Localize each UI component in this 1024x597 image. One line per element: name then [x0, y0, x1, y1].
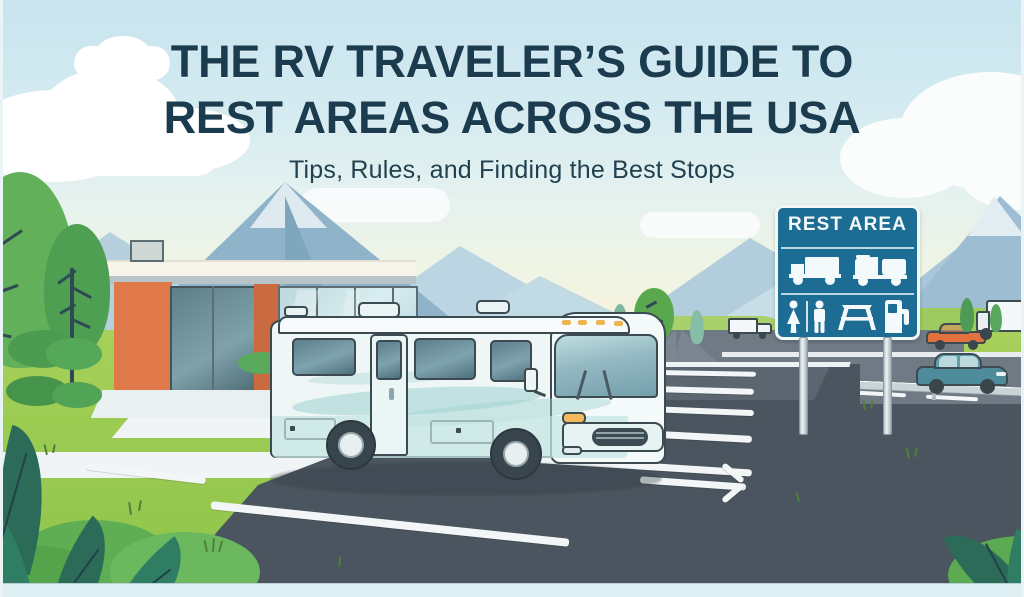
bottom-border — [0, 583, 1024, 597]
truck-icon — [789, 253, 845, 287]
left-border — [0, 0, 3, 597]
box-truck-far — [728, 318, 774, 342]
teal-sedan — [916, 352, 1010, 394]
rv-motorhome — [262, 296, 672, 502]
sign-post-right — [883, 337, 892, 435]
restroom-women-icon — [785, 300, 802, 333]
restroom-men-icon — [811, 300, 828, 333]
restroom-divider — [806, 301, 808, 332]
rest-area-sign[interactable]: REST AREA — [775, 205, 920, 365]
sign-heading: REST AREA — [775, 214, 920, 236]
rv-icon — [851, 253, 909, 287]
fuel-pump-icon — [883, 300, 913, 333]
hero-illustration: REST AREA — [0, 0, 1024, 597]
picnic-table-icon — [837, 303, 877, 331]
rv-window-rear — [292, 338, 356, 376]
sign-post-left — [799, 337, 808, 435]
rv-window-mid — [414, 338, 476, 380]
